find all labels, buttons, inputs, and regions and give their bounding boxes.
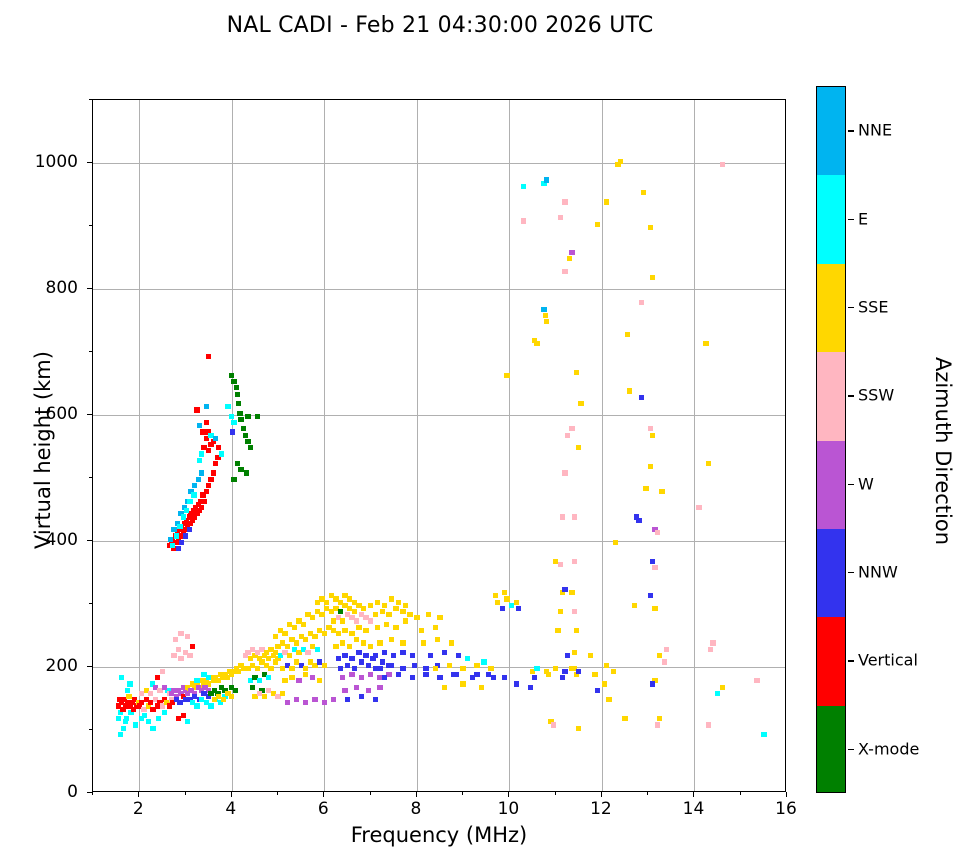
y-tick-mark: [89, 603, 92, 604]
data-point: [363, 628, 368, 633]
data-point: [197, 458, 202, 463]
data-point: [384, 622, 389, 627]
data-point: [655, 530, 660, 535]
x-tick-label: 8: [410, 799, 421, 819]
data-point: [123, 719, 128, 724]
x-tick-mark: [138, 792, 139, 797]
data-point: [213, 436, 218, 441]
data-point: [386, 672, 391, 677]
data-point: [534, 666, 539, 671]
data-point: [310, 615, 315, 620]
data-point: [255, 666, 260, 671]
colorbar-label-nnw: NNW: [858, 563, 898, 582]
data-point: [317, 678, 322, 683]
data-point: [460, 666, 465, 671]
data-point: [296, 678, 301, 683]
data-point: [368, 672, 373, 677]
colorbar-tick-mark: [848, 572, 854, 573]
data-point: [194, 678, 199, 683]
colorbar[interactable]: [816, 86, 846, 793]
data-point: [315, 647, 320, 652]
data-point: [191, 492, 196, 497]
data-point: [400, 666, 405, 671]
data-point: [710, 640, 715, 645]
data-point: [493, 593, 498, 598]
data-point: [352, 609, 357, 614]
data-point: [659, 489, 664, 494]
data-point: [504, 373, 509, 378]
data-point: [177, 524, 182, 529]
colorbar-label-sse: SSE: [858, 297, 888, 316]
data-point: [650, 275, 655, 280]
data-point: [528, 685, 533, 690]
data-point: [368, 618, 373, 623]
colorbar-segment-nnw[interactable]: [817, 529, 845, 618]
data-point: [375, 625, 380, 630]
data-point: [294, 697, 299, 702]
data-point: [356, 625, 361, 630]
data-point: [230, 429, 235, 434]
data-point: [235, 392, 240, 397]
data-point: [488, 666, 493, 671]
data-point: [200, 429, 205, 434]
data-point: [116, 716, 121, 721]
colorbar-label-x-mode: X-mode: [858, 739, 919, 758]
colorbar-segment-vertical[interactable]: [817, 617, 845, 706]
data-point: [221, 697, 226, 702]
data-point: [491, 675, 496, 680]
data-point: [187, 527, 192, 532]
data-point: [504, 596, 509, 601]
data-point: [310, 675, 315, 680]
data-point: [720, 162, 725, 167]
data-point: [354, 685, 359, 690]
data-point: [639, 300, 644, 305]
data-point: [319, 612, 324, 617]
data-point: [648, 464, 653, 469]
data-point: [562, 587, 567, 592]
data-point: [354, 618, 359, 623]
data-point: [303, 637, 308, 642]
colorbar-segment-w[interactable]: [817, 441, 845, 530]
data-point: [199, 470, 204, 475]
data-point: [187, 653, 192, 658]
data-point: [192, 483, 197, 488]
data-point: [393, 625, 398, 630]
data-point: [595, 222, 600, 227]
data-point: [148, 691, 153, 696]
data-point: [576, 669, 581, 674]
x-tick-mark: [277, 792, 278, 795]
y-tick-label: 200: [0, 656, 78, 676]
y-tick-mark: [89, 225, 92, 226]
data-point: [234, 385, 239, 390]
x-tick-label: 14: [683, 799, 705, 819]
data-point: [553, 666, 558, 671]
data-point: [266, 675, 271, 680]
gridline-vertical: [509, 100, 510, 791]
data-point: [657, 716, 662, 721]
data-point: [373, 653, 378, 658]
data-point: [292, 625, 297, 630]
colorbar-segment-sse[interactable]: [817, 264, 845, 353]
data-point: [534, 341, 539, 346]
data-point: [622, 716, 627, 721]
data-point: [303, 672, 308, 677]
data-point: [618, 159, 623, 164]
data-point: [305, 650, 310, 655]
x-tick-label: 10: [498, 799, 520, 819]
x-tick-mark: [416, 792, 417, 797]
colorbar-segment-x-mode[interactable]: [817, 706, 845, 793]
colorbar-tick-mark: [848, 130, 854, 131]
data-point: [187, 499, 192, 504]
colorbar-label-e: E: [858, 209, 868, 228]
data-point: [174, 533, 179, 538]
data-point: [238, 417, 243, 422]
colorbar-segment-e[interactable]: [817, 175, 845, 264]
data-point: [400, 650, 405, 655]
data-point: [208, 477, 213, 482]
x-tick-mark: [508, 792, 509, 797]
data-point: [715, 691, 720, 696]
data-point: [639, 395, 644, 400]
x-tick-label: 2: [133, 799, 144, 819]
data-point: [546, 672, 551, 677]
data-point: [361, 640, 366, 645]
data-point: [181, 514, 186, 519]
data-point: [377, 640, 382, 645]
data-point: [312, 634, 317, 639]
data-point: [235, 461, 240, 466]
colorbar-tick-mark: [848, 219, 854, 220]
data-point: [206, 354, 211, 359]
data-point: [349, 672, 354, 677]
data-point: [437, 675, 442, 680]
data-point: [206, 483, 211, 488]
data-point: [572, 650, 577, 655]
data-point: [340, 618, 345, 623]
data-point: [345, 697, 350, 702]
gridline-horizontal: [93, 163, 785, 164]
data-point: [386, 612, 391, 617]
data-point: [142, 713, 147, 718]
data-point: [173, 637, 178, 642]
data-point: [428, 653, 433, 658]
data-point: [435, 637, 440, 642]
x-tick-mark: [370, 792, 371, 795]
data-point: [708, 647, 713, 652]
data-point: [393, 606, 398, 611]
data-point: [560, 675, 565, 680]
data-point: [231, 477, 236, 482]
data-point: [118, 732, 123, 737]
data-point: [632, 603, 637, 608]
data-point: [197, 423, 202, 428]
data-point: [368, 644, 373, 649]
data-point: [373, 612, 378, 617]
data-point: [125, 688, 130, 693]
colorbar-tick-mark: [848, 395, 854, 396]
y-tick-mark: [89, 729, 92, 730]
data-point: [657, 653, 662, 658]
data-point: [442, 650, 447, 655]
data-point: [514, 600, 519, 605]
y-tick-mark: [89, 477, 92, 478]
data-point: [178, 656, 183, 661]
data-point: [146, 719, 151, 724]
data-point: [652, 565, 657, 570]
data-point: [555, 628, 560, 633]
data-point: [171, 653, 176, 658]
data-point: [532, 675, 537, 680]
gridline-horizontal: [93, 289, 785, 290]
data-point: [199, 505, 204, 510]
data-point: [655, 722, 660, 727]
data-point: [237, 411, 242, 416]
data-point: [206, 448, 211, 453]
x-tick-mark: [693, 792, 694, 797]
colorbar-segment-ssw[interactable]: [817, 352, 845, 441]
data-point: [219, 451, 224, 456]
data-point: [543, 313, 548, 318]
data-point: [650, 681, 655, 686]
data-point: [380, 659, 385, 664]
data-point: [407, 612, 412, 617]
data-point: [602, 681, 607, 686]
data-point: [349, 656, 354, 661]
data-point: [294, 640, 299, 645]
data-point: [558, 562, 563, 567]
x-tick-mark: [231, 792, 232, 797]
data-point: [119, 675, 124, 680]
data-point: [565, 433, 570, 438]
data-point: [643, 486, 648, 491]
data-point: [419, 628, 424, 633]
data-point: [199, 451, 204, 456]
data-point: [361, 606, 366, 611]
y-tick-mark: [87, 288, 92, 289]
gridline-horizontal: [93, 415, 785, 416]
y-tick-mark: [87, 540, 92, 541]
data-point: [706, 461, 711, 466]
data-point: [280, 691, 285, 696]
data-point: [177, 700, 182, 705]
data-point: [572, 609, 577, 614]
data-point: [133, 722, 138, 727]
data-point: [162, 710, 167, 715]
data-point: [213, 461, 218, 466]
data-point: [340, 675, 345, 680]
data-point: [569, 590, 574, 595]
data-point: [268, 666, 273, 671]
data-point: [345, 663, 350, 668]
data-point: [363, 653, 368, 658]
colorbar-tick-mark: [848, 749, 854, 750]
x-tick-mark: [786, 792, 787, 797]
data-point: [474, 672, 479, 677]
data-point: [474, 663, 479, 668]
data-point: [572, 514, 577, 519]
data-point: [382, 675, 387, 680]
data-point: [366, 688, 371, 693]
data-point: [236, 401, 241, 406]
data-point: [481, 659, 486, 664]
data-point: [255, 414, 260, 419]
data-point: [567, 256, 572, 261]
data-point: [541, 307, 546, 312]
data-point: [331, 697, 336, 702]
data-point: [244, 470, 249, 475]
data-point: [572, 559, 577, 564]
data-point: [449, 640, 454, 645]
data-point: [322, 700, 327, 705]
data-point: [421, 640, 426, 645]
data-point: [155, 675, 160, 680]
data-point: [551, 722, 556, 727]
data-point: [442, 685, 447, 690]
data-point: [204, 489, 209, 494]
data-point: [648, 225, 653, 230]
data-point: [196, 477, 201, 482]
data-point: [433, 666, 438, 671]
data-point: [437, 615, 442, 620]
data-point: [588, 653, 593, 658]
data-point: [641, 190, 646, 195]
data-point: [664, 647, 669, 652]
data-point: [194, 703, 199, 708]
ionogram-figure: NAL CADI - Feb 21 04:30:00 2026 UTC 2468…: [0, 0, 958, 857]
data-point: [179, 540, 184, 545]
data-point: [162, 685, 167, 690]
data-point: [396, 600, 401, 605]
data-point: [377, 685, 382, 690]
data-point: [720, 685, 725, 690]
data-point: [410, 653, 415, 658]
data-point: [225, 404, 230, 409]
data-point: [382, 650, 387, 655]
data-point: [509, 603, 514, 608]
y-tick-mark: [89, 99, 92, 100]
colorbar-label-vertical: Vertical: [858, 651, 918, 670]
data-point: [377, 666, 382, 671]
data-point: [233, 688, 238, 693]
data-point: [303, 700, 308, 705]
data-point: [396, 672, 401, 677]
data-point: [245, 439, 250, 444]
y-tick-mark: [87, 792, 92, 793]
data-point: [500, 606, 505, 611]
data-point: [569, 250, 574, 255]
x-tick-mark: [555, 792, 556, 795]
data-point: [495, 600, 500, 605]
data-point: [356, 650, 361, 655]
data-point: [336, 631, 341, 636]
data-point: [285, 644, 290, 649]
y-tick-mark: [87, 414, 92, 415]
data-point: [342, 628, 347, 633]
data-point: [454, 672, 459, 677]
data-point: [201, 499, 206, 504]
data-point: [312, 697, 317, 702]
data-point: [558, 215, 563, 220]
data-point: [338, 666, 343, 671]
data-point: [181, 713, 186, 718]
data-point: [366, 663, 371, 668]
data-point: [391, 653, 396, 658]
data-point: [389, 663, 394, 668]
data-point: [185, 634, 190, 639]
data-point: [208, 703, 213, 708]
y-axis-label: Virtual height (km): [31, 300, 55, 600]
data-point: [156, 716, 161, 721]
x-tick-label: 12: [590, 799, 612, 819]
data-point: [652, 606, 657, 611]
data-point: [126, 694, 131, 699]
data-point: [706, 722, 711, 727]
data-point: [121, 726, 126, 731]
data-point: [423, 666, 428, 671]
data-point: [273, 634, 278, 639]
data-point: [273, 659, 278, 664]
data-point: [558, 609, 563, 614]
data-point: [412, 663, 417, 668]
data-point: [340, 640, 345, 645]
data-point: [382, 603, 387, 608]
data-point: [241, 426, 246, 431]
x-tick-mark: [601, 792, 602, 797]
data-point: [576, 726, 581, 731]
data-point: [184, 508, 189, 513]
data-point: [544, 177, 549, 182]
data-point: [521, 184, 526, 189]
data-point: [465, 656, 470, 661]
data-point: [502, 675, 507, 680]
data-point: [423, 672, 428, 677]
data-point: [289, 666, 294, 671]
data-point: [349, 631, 354, 636]
x-tick-mark: [185, 792, 186, 795]
data-point: [373, 697, 378, 702]
gridline-vertical: [602, 100, 603, 791]
data-point: [282, 678, 287, 683]
data-point: [206, 675, 211, 680]
x-tick-mark: [462, 792, 463, 795]
data-point: [662, 659, 667, 664]
y-tick-label: 800: [0, 278, 78, 298]
data-point: [127, 681, 132, 686]
data-point: [238, 467, 243, 472]
data-point: [389, 637, 394, 642]
data-point: [604, 199, 609, 204]
data-point: [359, 694, 364, 699]
data-point: [368, 603, 373, 608]
data-point: [338, 609, 343, 614]
data-point: [194, 407, 199, 412]
data-point: [414, 615, 419, 620]
plot-area[interactable]: [92, 99, 786, 792]
data-point: [245, 414, 250, 419]
data-point: [229, 694, 234, 699]
data-point: [521, 218, 526, 223]
colorbar-tick-mark: [848, 660, 854, 661]
data-point: [301, 622, 306, 627]
data-point: [433, 625, 438, 630]
colorbar-segment-nne[interactable]: [817, 87, 845, 176]
data-point: [574, 628, 579, 633]
data-point: [565, 653, 570, 658]
data-point: [287, 653, 292, 658]
